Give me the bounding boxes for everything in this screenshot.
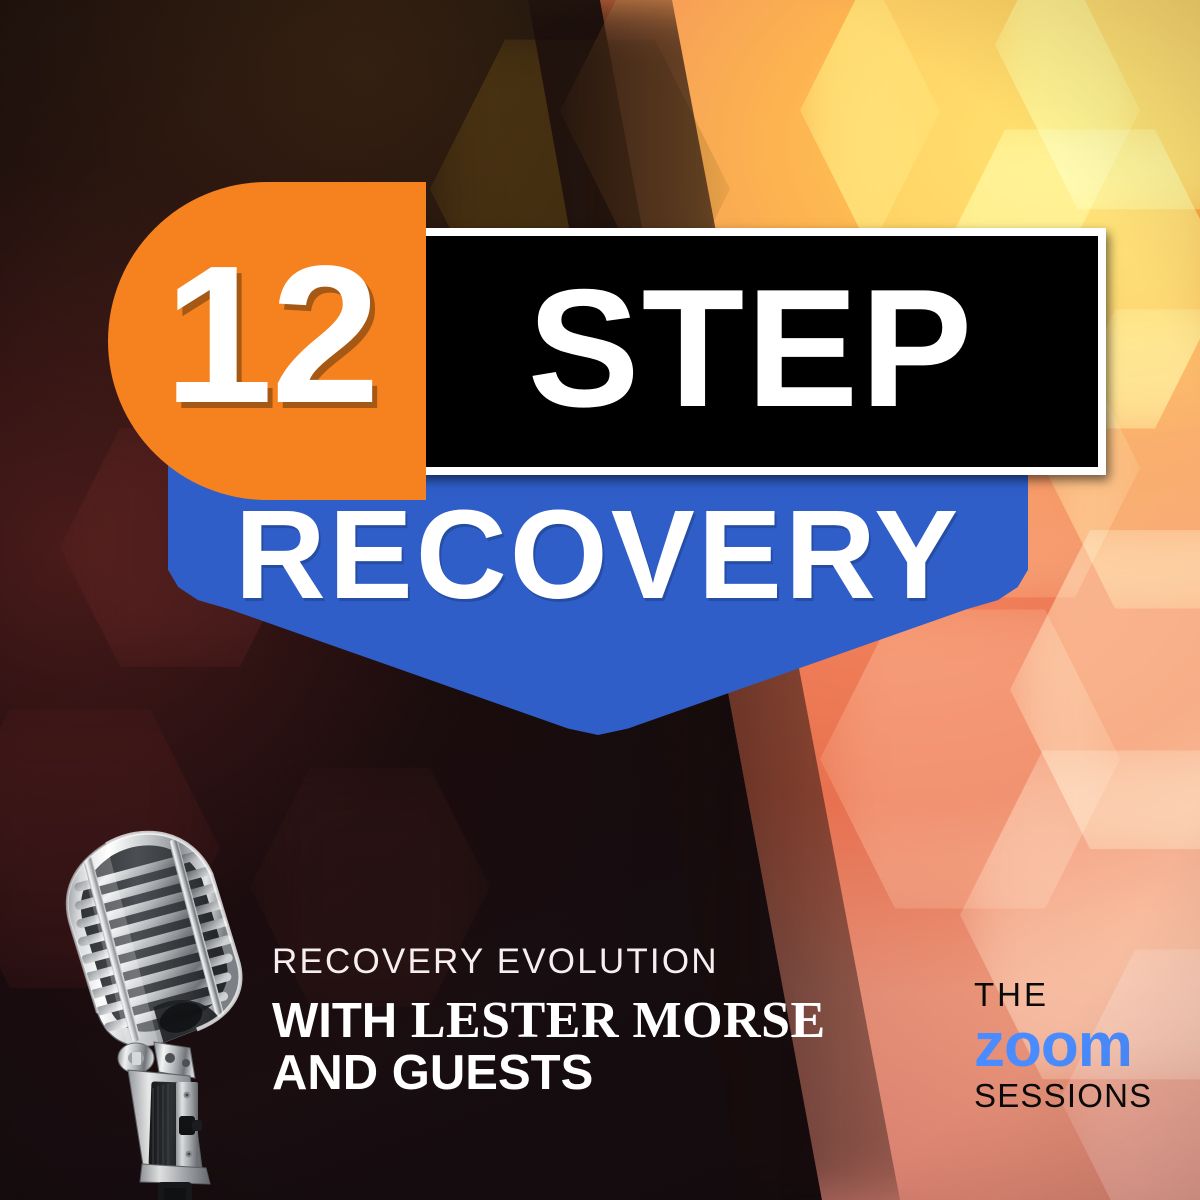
logo-twelve-number: 12 [164, 237, 378, 433]
twelve-orange-badge: 12 [108, 182, 426, 500]
credits-guests-line: AND GUESTS [272, 1048, 912, 1100]
credits-kicker: RECOVERY EVOLUTION [272, 944, 912, 979]
logo-step-word: STEP [528, 264, 975, 432]
vintage-microphone-icon [58, 820, 288, 1200]
zoom-mark-sessions: SESSIONS [974, 1079, 1174, 1112]
zoom-mark-the: THE [974, 978, 1174, 1011]
credits-with-word: WITH [272, 994, 397, 1048]
credits-host-name: LESTER MORSE [411, 992, 826, 1049]
podcast-cover-art: RECOVERY STEP 12 RECOVERY EVOLUTION WITH… [0, 0, 1200, 1200]
zoom-sessions-mark: THE zoom SESSIONS [974, 978, 1174, 1112]
step-band-black-box: STEP [404, 236, 1098, 467]
zoom-mark-wordmark: zoom [974, 1013, 1174, 1078]
credits-block: RECOVERY EVOLUTION WITH LESTER MORSE AND… [272, 944, 912, 1100]
credits-host-line: WITH LESTER MORSE [272, 993, 912, 1048]
